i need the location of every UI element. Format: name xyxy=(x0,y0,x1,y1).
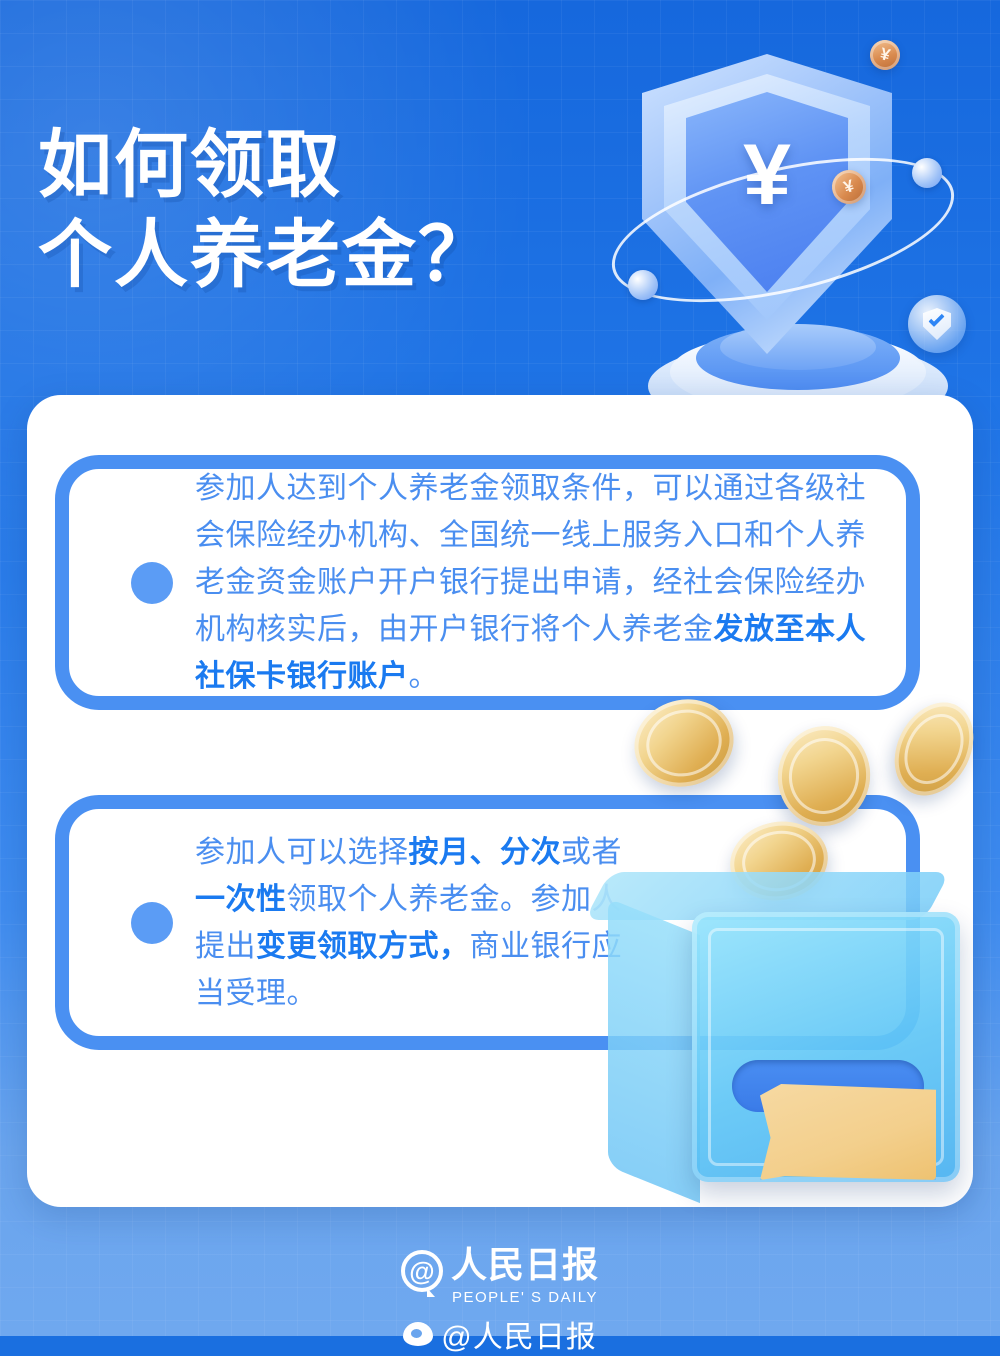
check-shield-badge-icon xyxy=(908,295,966,353)
weibo-handle-row: @人民日报 xyxy=(0,1312,1000,1356)
card2-seg-2: 或者 xyxy=(561,836,622,869)
at-speech-bubble-icon: @ xyxy=(401,1250,443,1292)
orbit-node-icon xyxy=(628,270,658,300)
orbit-node-icon xyxy=(912,158,942,188)
weibo-handle: @人民日报 xyxy=(441,1312,596,1356)
info-card-1: 参加人达到个人养老金领取条件，可以通过各级社会保险经办机构、全国统一线上服务入口… xyxy=(55,455,920,710)
brand-name-cn: 人民日报 xyxy=(451,1236,599,1288)
card2-seg-3: 一次性 xyxy=(195,883,287,916)
bullet-dot-icon xyxy=(131,902,173,944)
banknote-icon xyxy=(760,1084,936,1180)
hero-illustration: ¥ ¥ ¥ xyxy=(600,40,1000,440)
footer: @ 人民日报 PEOPLE' S DAILY @人民日报 xyxy=(0,1236,1000,1356)
info-card-1-text: 参加人达到个人养老金领取条件，可以通过各级社会保险经办机构、全国统一线上服务入口… xyxy=(195,465,880,700)
weibo-icon xyxy=(403,1322,433,1346)
page-title: 如何领取 个人养老金？ xyxy=(38,120,598,300)
brand-logo: @ 人民日报 PEOPLE' S DAILY xyxy=(0,1236,1000,1306)
bullet-dot-icon xyxy=(131,562,173,604)
card2-seg-5: 变更领取方式， xyxy=(256,930,470,963)
card2-seg-0: 参加人可以选择 xyxy=(195,836,409,869)
brand-name-en: PEOPLE' S DAILY xyxy=(451,1289,599,1306)
card2-seg-1: 按月、分次 xyxy=(409,836,562,869)
info-card-2-text: 参加人可以选择按月、分次或者一次性领取个人养老金。参加人提出变更领取方式，商业银… xyxy=(195,829,625,1017)
card1-seg-2: 。 xyxy=(409,660,440,693)
glass-money-box-icon xyxy=(600,872,972,1202)
